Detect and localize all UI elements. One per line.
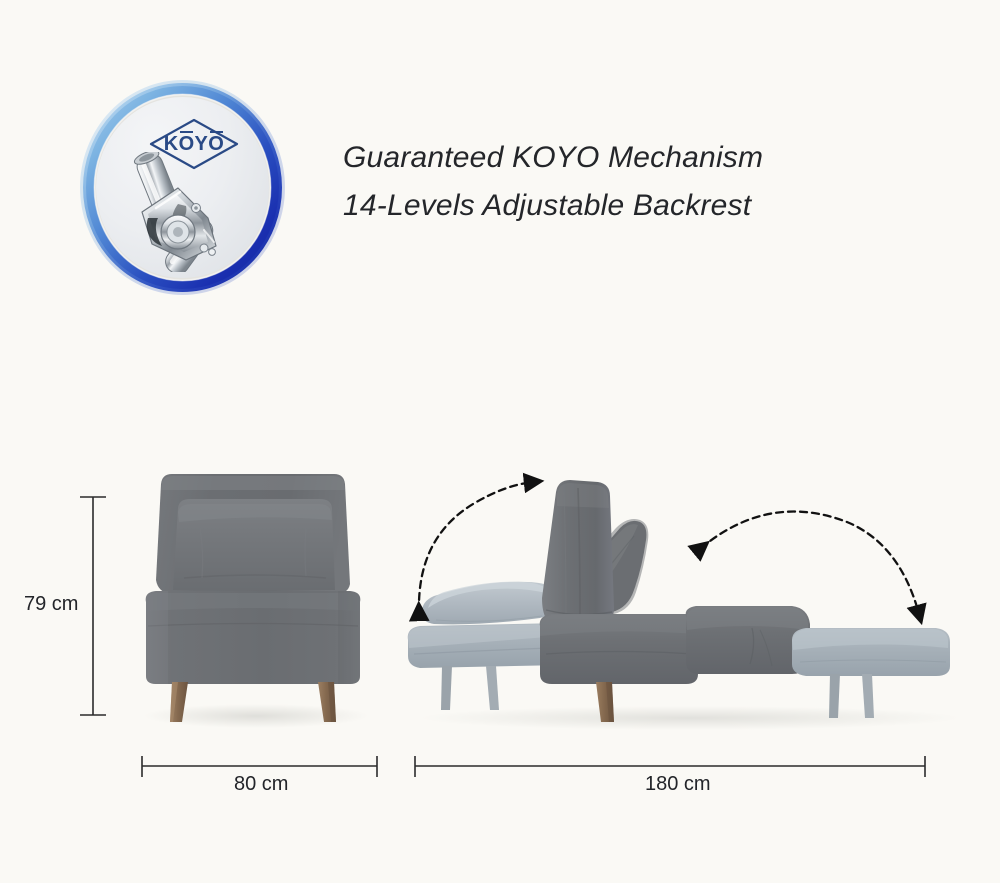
badge-face: KOYO bbox=[96, 97, 269, 278]
chair-width-dimension-label: 80 cm bbox=[234, 773, 288, 796]
chrome-hinge-mechanism-icon bbox=[112, 152, 262, 272]
backrest-fold-arrow-left bbox=[419, 482, 533, 612]
fold-direction-arrows bbox=[395, 468, 955, 678]
bed-width-dimension-label: 180 cm bbox=[645, 773, 711, 796]
infographic-canvas: KOYO bbox=[0, 0, 1000, 883]
height-dimension-label: 79 cm bbox=[24, 593, 78, 616]
single-sofa-chair-upright bbox=[128, 468, 378, 730]
headline-line-2: 14-Levels Adjustable Backrest bbox=[343, 182, 863, 230]
footrest-fold-arrow-right bbox=[701, 512, 919, 614]
koyo-guarantee-badge: KOYO bbox=[80, 80, 285, 295]
headline-line-1: Guaranteed KOYO Mechanism bbox=[343, 134, 863, 182]
headline-block: Guaranteed KOYO Mechanism 14-Levels Adju… bbox=[343, 134, 863, 230]
